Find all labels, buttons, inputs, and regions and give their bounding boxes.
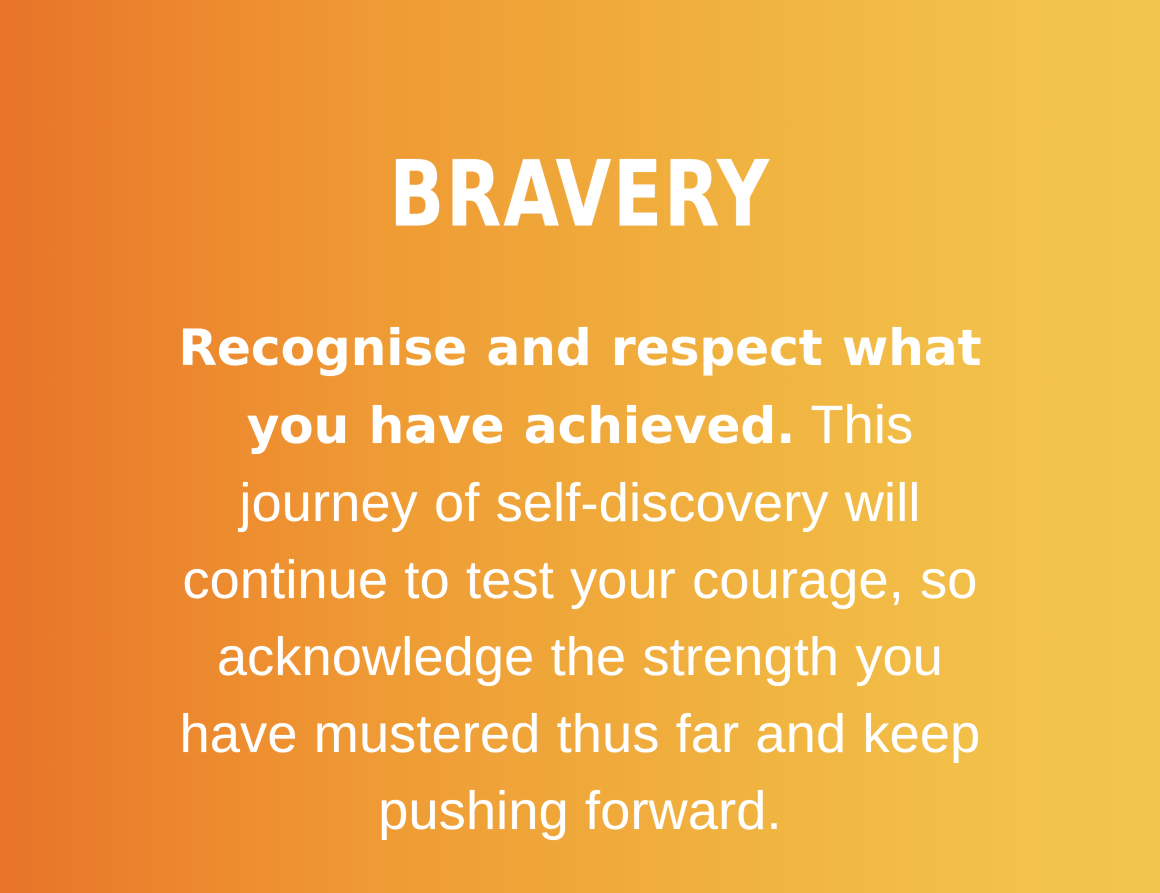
quote-card: BRAVERY Recognise and respect what you h… <box>0 0 1160 893</box>
quote-body-space <box>795 395 810 455</box>
quote-paragraph: Recognise and respect what you have achi… <box>162 309 998 850</box>
body-block: Recognise and respect what you have achi… <box>162 309 998 850</box>
title-block: BRAVERY <box>0 152 1160 238</box>
page-title: BRAVERY <box>389 149 771 240</box>
quote-body-text: This journey of self-discovery will cont… <box>180 395 981 841</box>
